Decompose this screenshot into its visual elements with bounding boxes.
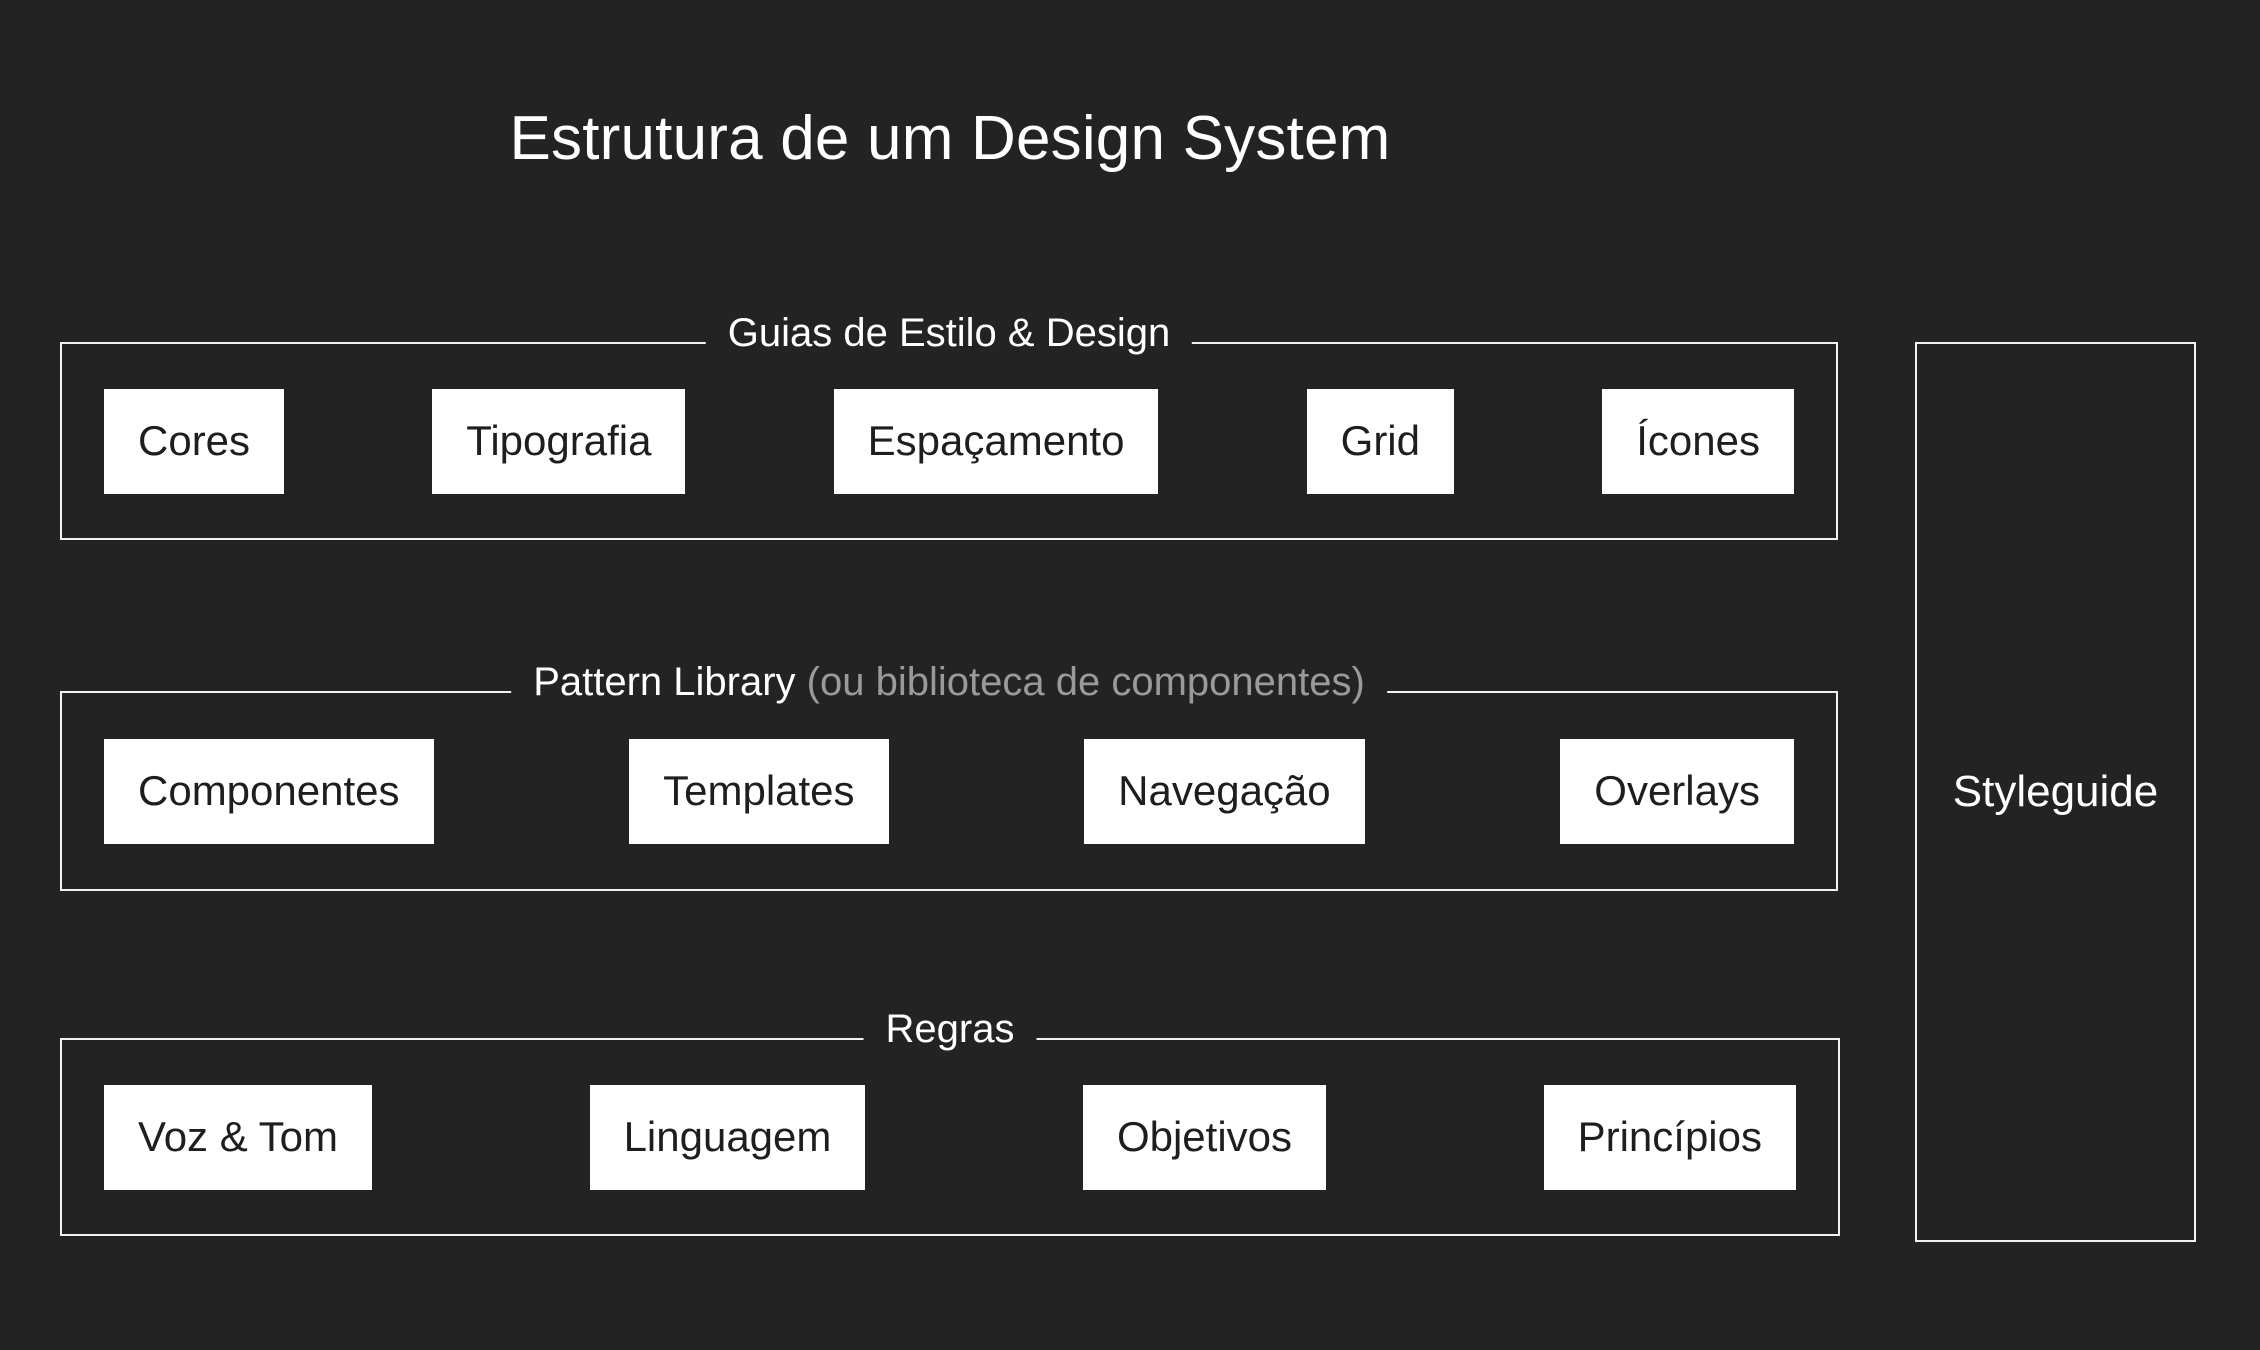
chip-row-pattern-library: Componentes Templates Navegação Overlays [104,693,1794,889]
group-regras: Regras Voz & Tom Linguagem Objetivos Pri… [60,1038,1840,1236]
chip-templates[interactable]: Templates [629,739,888,844]
chip-linguagem[interactable]: Linguagem [590,1085,866,1190]
chip-navegacao[interactable]: Navegação [1084,739,1364,844]
chip-componentes[interactable]: Componentes [104,739,434,844]
chip-row-guias-de-estilo: Cores Tipografia Espaçamento Grid Ícones [104,344,1794,538]
chip-voz-e-tom[interactable]: Voz & Tom [104,1085,372,1190]
chip-tipografia[interactable]: Tipografia [432,389,685,494]
chip-espacamento[interactable]: Espaçamento [834,389,1159,494]
chip-grid[interactable]: Grid [1307,389,1454,494]
page-title: Estrutura de um Design System [0,105,1900,173]
chip-row-regras: Voz & Tom Linguagem Objetivos Princípios [104,1040,1796,1234]
chip-icones[interactable]: Ícones [1602,389,1794,494]
styleguide-label: Styleguide [1953,767,2158,817]
styleguide-panel: Styleguide [1915,342,2196,1242]
diagram-canvas: Estrutura de um Design System Guias de E… [0,0,2260,1350]
chip-principios[interactable]: Princípios [1544,1085,1796,1190]
group-pattern-library: Pattern Library (ou biblioteca de compon… [60,691,1838,891]
group-guias-de-estilo: Guias de Estilo & Design Cores Tipografi… [60,342,1838,540]
chip-overlays[interactable]: Overlays [1560,739,1794,844]
chip-cores[interactable]: Cores [104,389,284,494]
chip-objetivos[interactable]: Objetivos [1083,1085,1326,1190]
